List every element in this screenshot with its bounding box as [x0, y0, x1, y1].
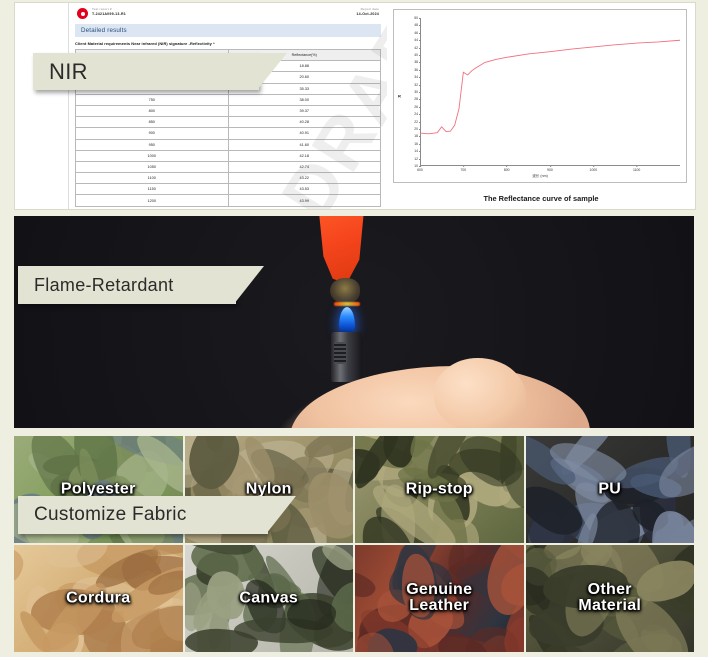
table-row: 115043.53	[76, 184, 381, 195]
chart-y-tick: 26	[414, 105, 418, 109]
fabric-cell-canvas[interactable]: Canvas	[185, 545, 354, 652]
reflectance-curve	[420, 18, 680, 166]
chart-y-tick: 22	[414, 120, 418, 124]
fabric-label: GenuineLeather	[355, 582, 524, 616]
chart-x-tick: 600	[417, 168, 423, 172]
ember-glow	[334, 302, 360, 306]
chart-y-tick: 14	[414, 149, 418, 153]
fabric-label: Canvas	[185, 590, 354, 607]
table-row: 75038.00	[76, 94, 381, 105]
cell-reflectance: 40.91	[228, 128, 381, 139]
report-paper: Test report # T-2421A099-13-R1 Report da…	[68, 3, 387, 209]
cell-reflectance: 43.22	[228, 173, 381, 184]
table-row: 105042.74	[76, 161, 381, 172]
chart-plot-area: 1012141618202224262830323436384042444648…	[420, 18, 680, 166]
nir-section: Test report # T-2421A099-13-R1 Report da…	[14, 2, 696, 210]
flame-retardant-section	[14, 216, 694, 428]
cell-reflectance: 41.60	[228, 139, 381, 150]
table-row: 80039.37	[76, 105, 381, 116]
lighter-body	[331, 332, 362, 382]
cell-reflectance: 42.74	[228, 161, 381, 172]
report-header: Test report # T-2421A099-13-R1 Report da…	[69, 3, 387, 21]
chart-y-tick: 32	[414, 83, 418, 87]
table-row: 110043.22	[76, 173, 381, 184]
cell-wavelength: 900	[76, 128, 229, 139]
cell-wavelength: 850	[76, 117, 229, 128]
fabric-cell-rip-stop[interactable]: Rip-stop	[355, 436, 524, 543]
fabric-cell-genuine-leather[interactable]: GenuineLeather	[355, 545, 524, 652]
cell-wavelength: 800	[76, 105, 229, 116]
blue-flame-icon	[339, 307, 355, 334]
nir-report-document: Test report # T-2421A099-13-R1 Report da…	[15, 3, 387, 209]
chart-y-tick: 42	[414, 46, 418, 50]
cell-reflectance: 42.18	[228, 150, 381, 161]
cell-wavelength: 1200	[76, 195, 229, 206]
chart-caption: The Reflectance curve of sample	[387, 194, 695, 203]
chart-y-tick: 18	[414, 134, 418, 138]
customize-fabric-grid: Polyester Nylon Rip-stop PU Cordura Canv…	[14, 436, 694, 652]
chart-y-tick: 48	[414, 23, 418, 27]
table-row: 120043.99	[76, 195, 381, 206]
table-row: 100042.18	[76, 150, 381, 161]
cell-reflectance: 43.99	[228, 195, 381, 206]
chart-x-tick: 700	[460, 168, 466, 172]
chart-x-tick: 800	[504, 168, 510, 172]
chart-y-tick: 28	[414, 97, 418, 101]
chart-y-tick: 50	[414, 16, 418, 20]
fabric-cell-other-material[interactable]: OtherMaterial	[526, 545, 695, 652]
chart-y-tick: 16	[414, 142, 418, 146]
fabric-label: Rip-stop	[355, 481, 524, 498]
report-header-left: Test report # T-2421A099-13-R1	[77, 7, 126, 19]
camo-blob	[14, 546, 25, 585]
detailed-results-title: Detailed results	[75, 24, 381, 37]
fabric-label: Cordura	[14, 590, 183, 607]
chart-x-tick: 900	[547, 168, 553, 172]
cell-reflectance: 38.00	[228, 94, 381, 105]
cell-reflectance: 39.37	[228, 105, 381, 116]
cell-wavelength: 1100	[76, 173, 229, 184]
fabric-label: OtherMaterial	[526, 582, 695, 616]
cell-wavelength: 950	[76, 139, 229, 150]
chart-y-axis-title: R	[398, 94, 401, 99]
cell-wavelength: 1050	[76, 161, 229, 172]
chart-y-tick: 24	[414, 112, 418, 116]
charred-fabric-edge	[330, 278, 360, 304]
fabric-label: PU	[526, 481, 695, 498]
flame-retardant-banner-label: Flame-Retardant	[18, 275, 174, 296]
table-row: 90040.91	[76, 128, 381, 139]
report-date-value: 14-Oct-2024	[356, 12, 379, 17]
nir-banner: NIR	[33, 53, 259, 90]
fabric-swatch-burning	[306, 216, 364, 290]
chart-x-axis-title: 波长 (nm)	[532, 174, 548, 179]
lab-logo-icon	[77, 8, 88, 19]
chart-frame: R 10121416182022242628303234363840424446…	[393, 9, 687, 183]
cell-reflectance: 43.53	[228, 184, 381, 195]
chart-y-tick: 30	[414, 90, 418, 94]
table-row: 95041.60	[76, 139, 381, 150]
chart-y-tick: 40	[414, 53, 418, 57]
chart-x-tick: 1000	[590, 168, 598, 172]
flame-retardant-banner: Flame-Retardant	[18, 266, 236, 304]
requirement-line: Client Material requirements Near infrar…	[75, 41, 381, 46]
chart-y-tick: 38	[414, 60, 418, 64]
customize-fabric-banner: Customize Fabric	[18, 496, 268, 534]
cell-wavelength: 1000	[76, 150, 229, 161]
product-feature-page: Test report # T-2421A099-13-R1 Report da…	[0, 0, 708, 657]
report-header-right: Report date 14-Oct-2024	[356, 7, 379, 17]
cell-wavelength: 750	[76, 94, 229, 105]
nir-banner-label: NIR	[33, 59, 88, 85]
fabric-cell-pu[interactable]: PU	[526, 436, 695, 543]
flame-test-photo	[14, 216, 694, 428]
cell-wavelength: 1150	[76, 184, 229, 195]
chart-x-tick: 1100	[633, 168, 640, 172]
chart-y-tick: 12	[414, 157, 418, 161]
thumb	[434, 358, 526, 428]
table-row: 85040.28	[76, 117, 381, 128]
reflectance-chart: R 10121416182022242628303234363840424446…	[387, 3, 695, 209]
chart-y-tick: 20	[414, 127, 418, 131]
chart-y-tick: 44	[414, 38, 418, 42]
chart-y-tick: 34	[414, 75, 418, 79]
customize-fabric-banner-label: Customize Fabric	[18, 504, 187, 526]
test-report-value: T-2421A099-13-R1	[92, 12, 126, 17]
cell-reflectance: 40.28	[228, 117, 381, 128]
chart-y-tick: 46	[414, 31, 418, 35]
chart-y-tick: 36	[414, 68, 418, 72]
fabric-cell-cordura[interactable]: Cordura	[14, 545, 183, 652]
